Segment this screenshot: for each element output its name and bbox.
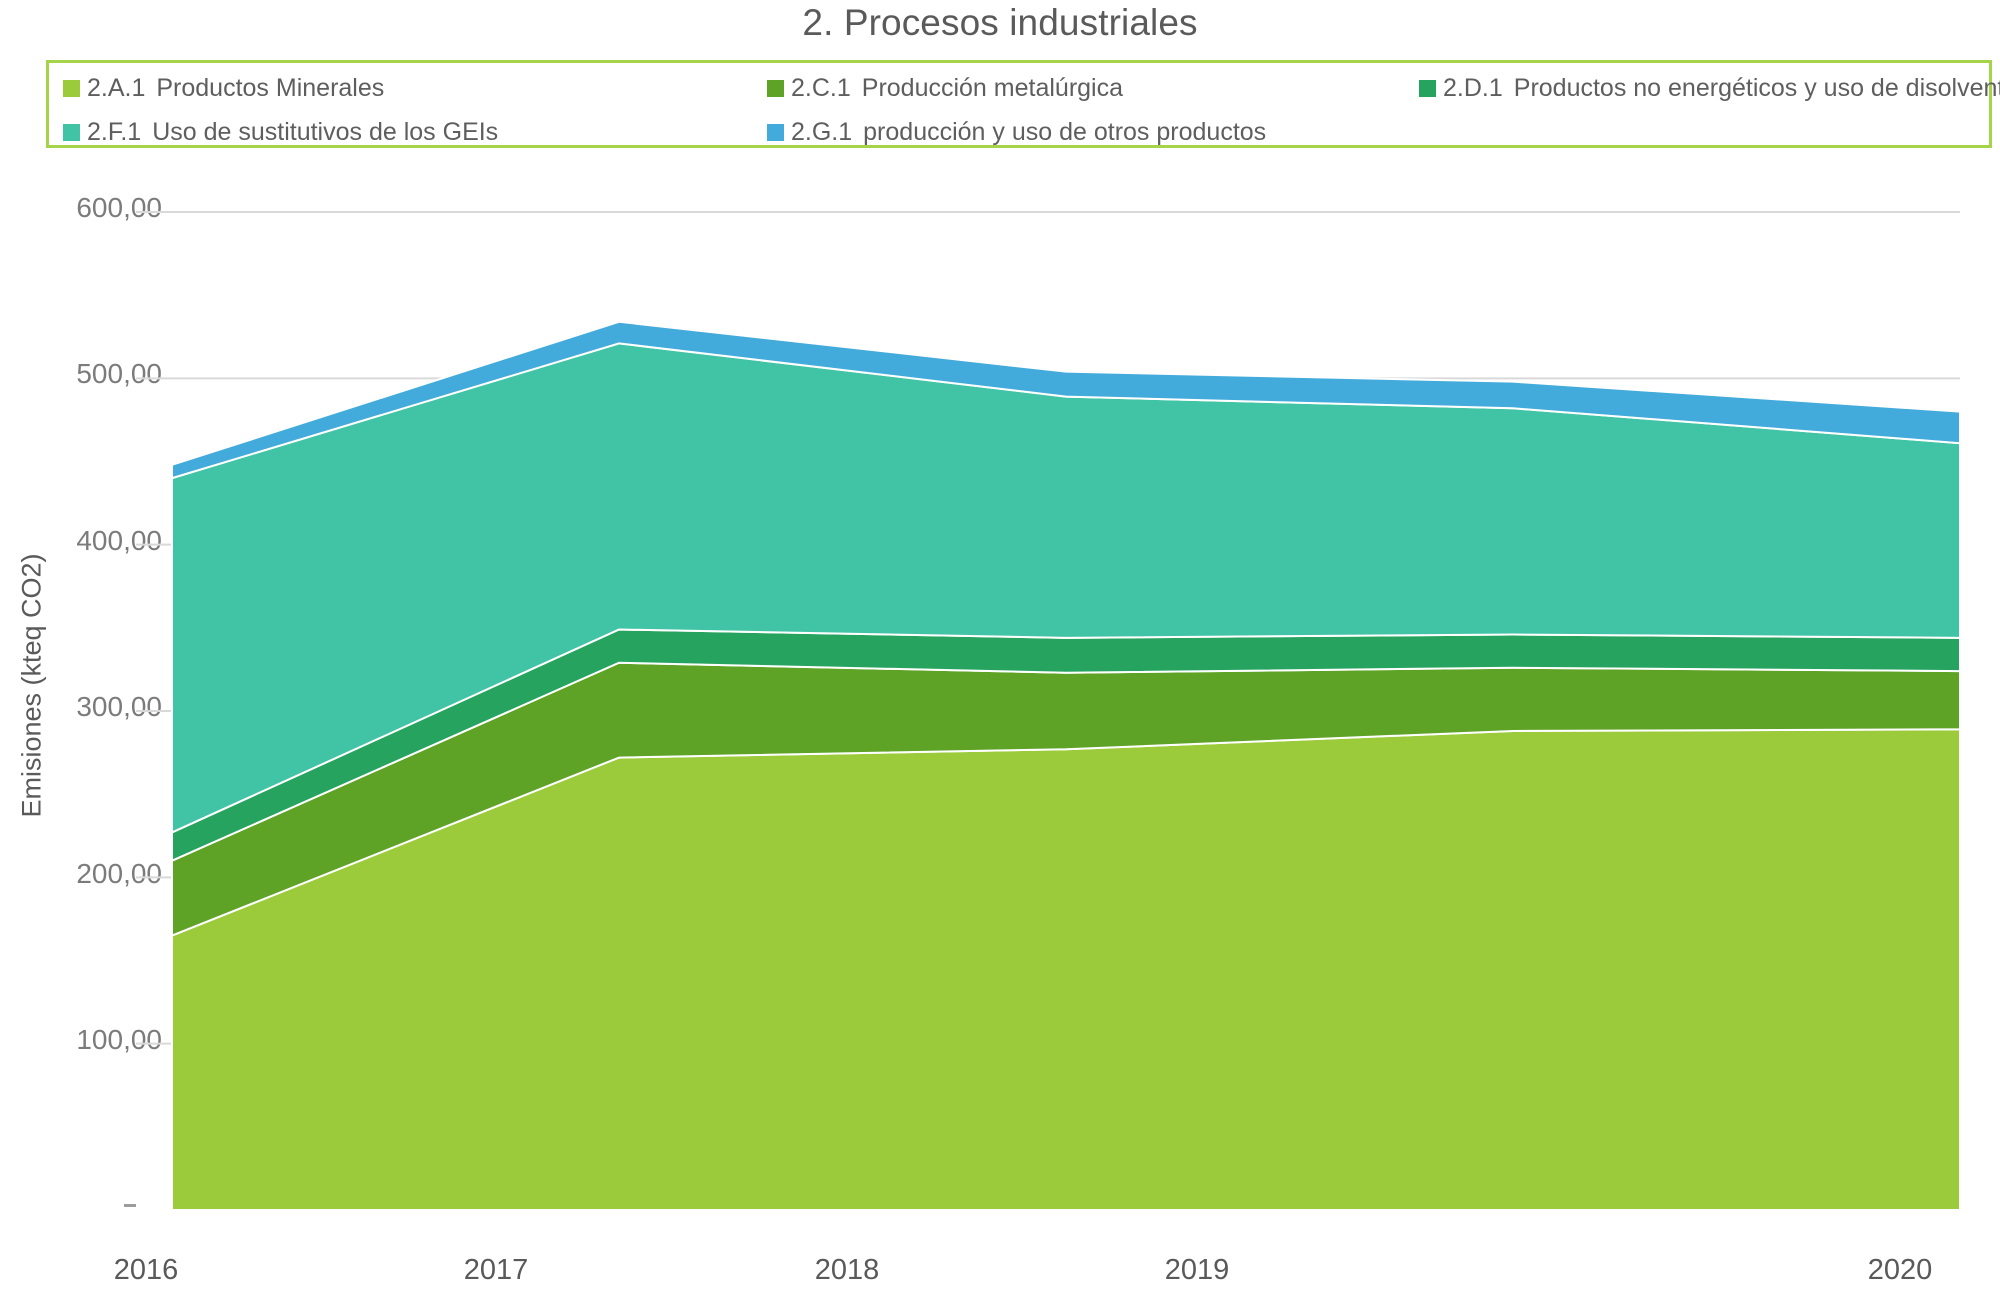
legend-code-2a1: 2.A.1 [87,74,145,103]
legend-code-2g1: 2.G.1 [791,118,852,147]
legend-item-2d1[interactable]: 2.D.1 Productos no energéticos y uso de … [1419,66,2000,110]
legend-row-2: 2.F.1 Uso de sustitutivos de los GEIs 2.… [49,110,1989,154]
legend-item-2f1[interactable]: 2.F.1 Uso de sustitutivos de los GEIs [63,110,498,154]
plot-area: Emisiones (kteq CO2) 600,00 500,00 400,0… [0,150,2000,1290]
chart-legend: 2.A.1 Productos Minerales 2.C.1 Producci… [46,60,1992,148]
legend-label-2g1: producción y uso de otros productos [863,118,1266,147]
legend-code-2c1: 2.C.1 [791,74,851,103]
legend-item-2g1[interactable]: 2.G.1 producción y uso de otros producto… [767,110,1266,154]
legend-swatch-2f1 [63,124,80,141]
area-series-group [172,322,1960,1210]
legend-swatch-2a1 [63,80,80,97]
legend-label-2c1: Producción metalúrgica [862,74,1123,103]
legend-swatch-2g1 [767,124,784,141]
legend-label-2a1: Productos Minerales [156,74,384,103]
chart-title: 2. Procesos industriales [0,2,2000,44]
legend-label-2d1: Productos no energéticos y uso de disolv… [1514,74,2000,103]
legend-code-2d1: 2.D.1 [1443,74,1503,103]
legend-swatch-2c1 [767,80,784,97]
legend-row-1: 2.A.1 Productos Minerales 2.C.1 Producci… [49,66,1989,110]
legend-code-2f1: 2.F.1 [87,118,141,147]
legend-swatch-2d1 [1419,80,1436,97]
legend-item-2c1[interactable]: 2.C.1 Producción metalúrgica [767,66,1123,110]
stacked-area-svg [0,150,2000,1290]
legend-item-2a1[interactable]: 2.A.1 Productos Minerales [63,66,384,110]
legend-label-2f1: Uso de sustitutivos de los GEIs [152,118,498,147]
